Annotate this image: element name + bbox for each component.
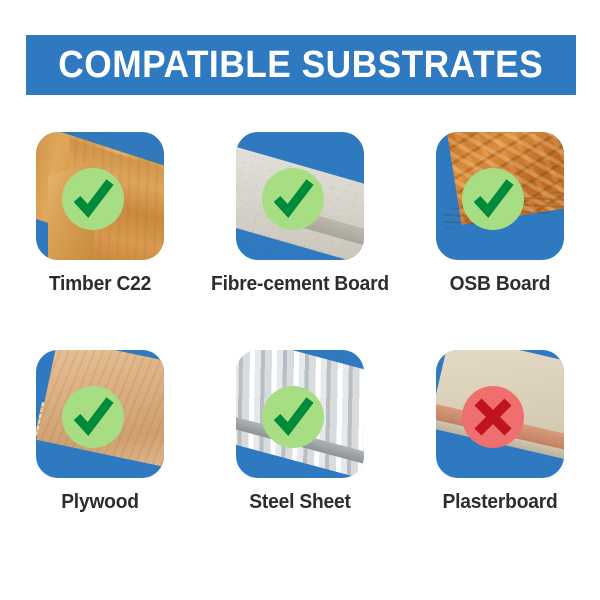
substrate-item-steel-sheet[interactable]: Steel Sheet xyxy=(200,338,400,556)
substrate-tile-plywood[interactable] xyxy=(36,350,164,478)
header-banner: COMPATIBLE SUBSTRATES xyxy=(26,35,576,95)
compatible-substrates-page: COMPATIBLE SUBSTRATES Timber C22 xyxy=(0,0,600,600)
check-icon xyxy=(262,386,324,448)
check-icon xyxy=(62,168,124,230)
substrate-label: Plasterboard xyxy=(409,490,591,514)
substrate-label: OSB Board xyxy=(409,272,591,296)
substrate-tile-steel-sheet[interactable] xyxy=(236,350,364,478)
substrate-item-osb-board[interactable]: OSB Board xyxy=(400,120,600,338)
substrate-label: Fibre-cement Board xyxy=(209,272,391,296)
check-icon xyxy=(62,386,124,448)
check-icon xyxy=(262,168,324,230)
substrate-label: Timber C22 xyxy=(9,272,191,296)
substrate-item-plywood[interactable]: Plywood xyxy=(0,338,200,556)
substrate-item-plasterboard[interactable]: Plasterboard xyxy=(400,338,600,556)
substrate-tile-plasterboard[interactable] xyxy=(436,350,564,478)
substrate-tile-osb-board[interactable] xyxy=(436,132,564,260)
substrate-tile-timber-c22[interactable] xyxy=(36,132,164,260)
substrate-grid: Timber C22 Fibre-cement Board xyxy=(0,120,600,556)
substrate-label: Plywood xyxy=(9,490,191,514)
page-title: COMPATIBLE SUBSTRATES xyxy=(59,46,544,84)
cross-icon xyxy=(462,386,524,448)
substrate-item-fibre-cement-board[interactable]: Fibre-cement Board xyxy=(200,120,400,338)
substrate-item-timber-c22[interactable]: Timber C22 xyxy=(0,120,200,338)
substrate-tile-fibre-cement-board[interactable] xyxy=(236,132,364,260)
substrate-label: Steel Sheet xyxy=(209,490,391,514)
check-icon xyxy=(462,168,524,230)
